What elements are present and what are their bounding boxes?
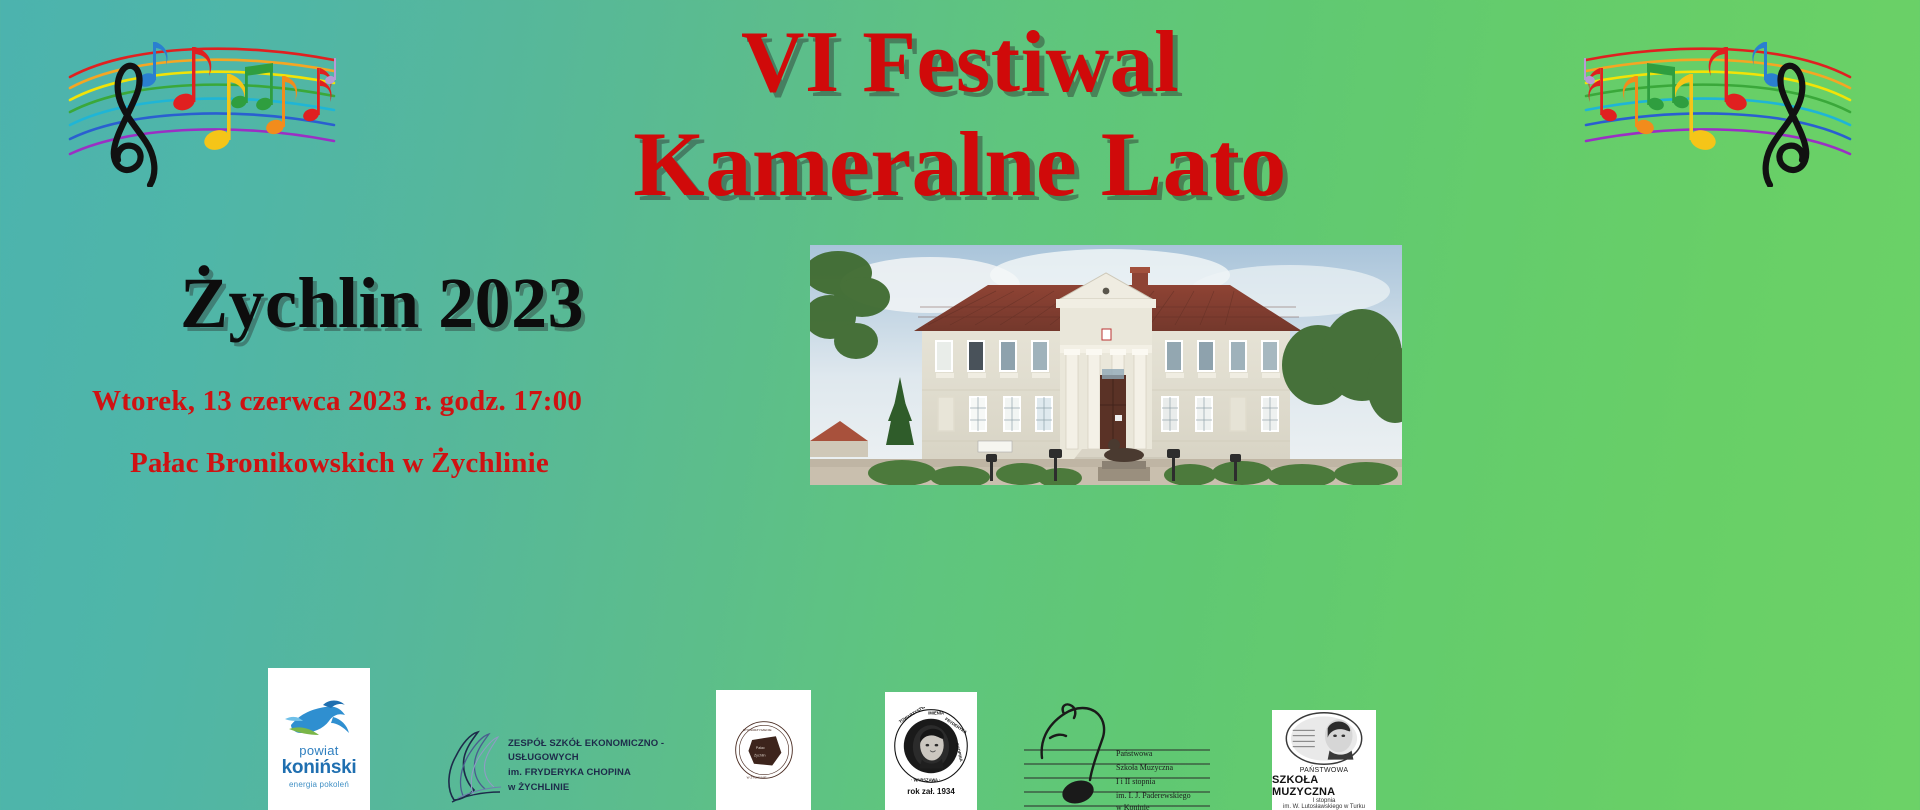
city-year-heading: Żychlin 2023 <box>180 262 584 345</box>
title-line-1: VI Festiwal <box>0 14 1920 113</box>
svg-text:Żychlin: Żychlin <box>753 752 765 757</box>
horse-head-note-staff-icon: Państwowa Szkoła Muzyczna I i II stopnia… <box>1020 700 1215 810</box>
partner-logos-strip: powiat koniński energia pokoleń ZESPÓ <box>0 665 1920 810</box>
logo-psm-line1: Państwowa <box>1116 749 1153 758</box>
logo-powiat-koninski[interactable]: powiat koniński energia pokoleń <box>268 668 370 810</box>
oval-composer-emblem-icon <box>1282 710 1366 767</box>
circular-seal-icon: Pałac Żychlin STOWARZYSZENIE W ŻYCHLINIE <box>732 718 796 782</box>
svg-text:STOWARZYSZENIE: STOWARZYSZENIE <box>742 728 771 732</box>
svg-text:Pałac: Pałac <box>755 746 764 750</box>
poster-title: VI Festiwal Kameralne Lato <box>0 14 1920 216</box>
logo-psm-paderewski-konin[interactable]: Państwowa Szkoła Muzyczna I i II stopnia… <box>1020 700 1215 810</box>
logo-tifc-caption: rok zał. 1934 <box>907 787 955 796</box>
logo-psm-line2: Szkoła Muzyczna <box>1116 763 1174 772</box>
profile-faces-icon <box>440 726 502 806</box>
logo-turek-line4: im. W. Lutosławskiego w Turku <box>1283 804 1365 810</box>
logo-towarzystwo-chopina[interactable]: TOWARZYSTWO IMIENIA FRYDERYKA CHOPINA · … <box>885 692 977 810</box>
event-date-time: Wtorek, 13 czerwca 2023 r. godz. 17:00 <box>92 385 582 418</box>
logo-turek-line2: SZKOŁA MUZYCZNA <box>1272 774 1376 798</box>
logo-koninski-line2: koniński <box>282 758 357 778</box>
svg-text:· WARSZAWA ·: · WARSZAWA · <box>911 777 940 782</box>
logo-psm-line4: im. I. J. Paderewskiego <box>1116 791 1191 800</box>
logo-koninski-line1: powiat <box>299 743 338 758</box>
chopin-portrait-seal-icon: TOWARZYSTWO IMIENIA FRYDERYKA CHOPINA · … <box>892 707 970 785</box>
logo-psm-line5: w Koninie <box>1116 803 1150 810</box>
logo-stowarzyszenie-seal[interactable]: Pałac Żychlin STOWARZYSZENIE W ŻYCHLINIE <box>716 690 811 810</box>
title-line-2: Kameralne Lato <box>0 113 1920 216</box>
palace-photo <box>810 245 1402 485</box>
logo-zseu-chopin-zychlin[interactable]: ZESPÓŁ SZKÓŁ EKONOMICZNO - USŁUGOWYCH im… <box>440 722 670 810</box>
logo-turek-line1: PAŃSTWOWA <box>1300 767 1349 774</box>
logo-psm-line3: I i II stopnia <box>1116 777 1156 786</box>
logo-zseu-line2: im. FRYDERYKA CHOPINA <box>508 766 670 781</box>
logo-psm-lutoslawski-turek[interactable]: PAŃSTWOWA SZKOŁA MUZYCZNA I stopnia im. … <box>1272 710 1376 810</box>
svg-text:W ŻYCHLINIE: W ŻYCHLINIE <box>746 774 766 779</box>
logo-zseu-line1: ZESPÓŁ SZKÓŁ EKONOMICZNO - USŁUGOWYCH <box>508 737 670 766</box>
event-venue: Pałac Bronikowskich w Żychlinie <box>130 447 549 480</box>
logo-zseu-line3: w ŻYCHLINIE <box>508 781 670 796</box>
svg-text:IMIENIA: IMIENIA <box>928 710 944 715</box>
horse-wave-icon <box>283 695 355 741</box>
logo-zseu-text: ZESPÓŁ SZKÓŁ EKONOMICZNO - USŁUGOWYCH im… <box>508 737 670 796</box>
logo-koninski-line3: energia pokoleń <box>289 780 349 789</box>
